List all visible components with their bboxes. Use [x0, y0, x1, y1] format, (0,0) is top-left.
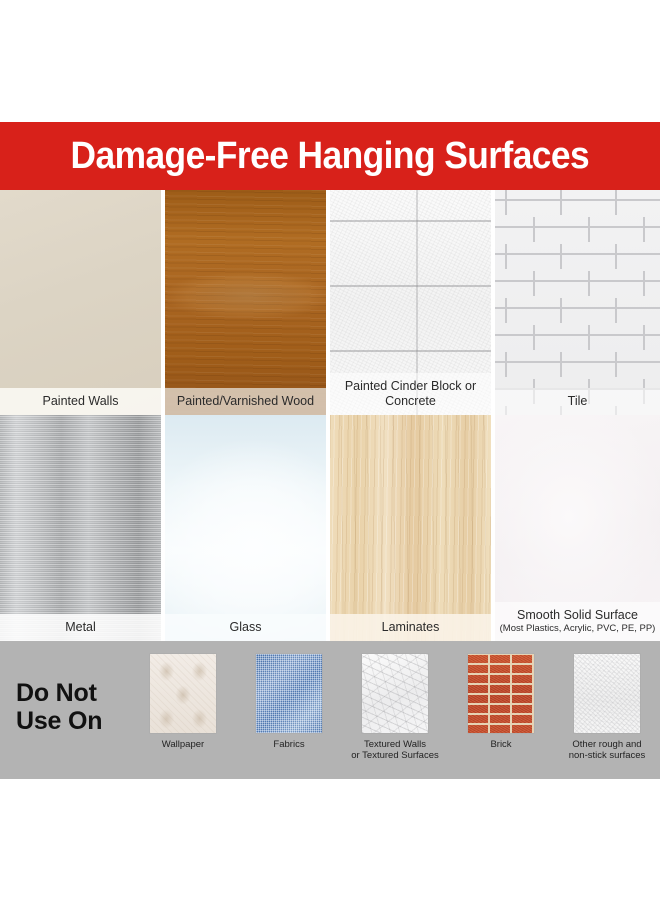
do-not-use-section: Do Not Use On Wallpaper Fabrics Textured… [0, 641, 660, 779]
surface-label: Glass [165, 614, 326, 642]
do-not-item-fabrics: Fabrics [236, 641, 342, 750]
do-not-item-label: Fabrics [273, 739, 304, 750]
surface-label-text: Smooth Solid Surface [517, 608, 638, 622]
surface-cell-smooth-solid: Smooth Solid Surface (Most Plastics, Acr… [495, 415, 660, 641]
surface-cell-glass: Glass [165, 415, 326, 641]
do-not-item-brick: Brick [448, 641, 554, 750]
fabric-denim-texture [256, 654, 322, 733]
brushed-metal-texture [0, 415, 161, 641]
surface-cell-cinder-block: Painted Cinder Block or Concrete [330, 190, 491, 415]
surface-label: Painted Cinder Block or Concrete [330, 373, 491, 415]
surface-row-1: Painted Walls Painted/Varnished Wood Pai… [0, 190, 660, 415]
surface-cell-painted-walls: Painted Walls [0, 190, 161, 415]
wallpaper-texture [150, 654, 216, 733]
surface-cell-varnished-wood: Painted/Varnished Wood [165, 190, 326, 415]
surface-label: Painted Walls [0, 388, 161, 416]
brick-texture [468, 654, 534, 733]
surface-label: Tile [495, 388, 660, 416]
header-banner: Damage-Free Hanging Surfaces [0, 122, 660, 190]
surface-row-2: Metal Glass Laminates Smooth Solid Surfa… [0, 415, 660, 641]
do-not-item-wallpaper: Wallpaper [130, 641, 236, 750]
do-not-item-label: Wallpaper [162, 739, 204, 750]
approved-surfaces-grid: Painted Walls Painted/Varnished Wood Pai… [0, 190, 660, 641]
surface-cell-tile: Tile [495, 190, 660, 415]
glass-texture [165, 415, 326, 641]
do-not-item-label: Other rough and non-stick surfaces [569, 739, 646, 761]
surface-label: Painted/Varnished Wood [165, 388, 326, 416]
varnished-wood-texture [165, 190, 326, 415]
do-not-item-label: Brick [490, 739, 511, 750]
do-not-use-items: Wallpaper Fabrics Textured Walls or Text… [130, 641, 660, 779]
do-not-item-label: Textured Walls or Textured Surfaces [351, 739, 438, 761]
laminate-wood-texture [330, 415, 491, 641]
rough-surface-texture [574, 654, 640, 733]
surface-label: Metal [0, 614, 161, 642]
do-not-use-line-2: Use On [16, 707, 102, 735]
do-not-item-textured-walls: Textured Walls or Textured Surfaces [342, 641, 448, 761]
surface-label: Laminates [330, 614, 491, 642]
do-not-use-title: Do Not Use On [16, 679, 102, 735]
do-not-item-rough-surfaces: Other rough and non-stick surfaces [554, 641, 660, 761]
painted-wall-texture [0, 190, 161, 415]
surface-sublabel: (Most Plastics, Acrylic, PVC, PE, PP) [497, 623, 658, 634]
subway-tile-texture [495, 190, 660, 415]
textured-wall-texture [362, 654, 428, 733]
infographic-page: Damage-Free Hanging Surfaces Painted Wal… [0, 0, 660, 900]
page-title: Damage-Free Hanging Surfaces [71, 137, 590, 175]
surface-cell-metal: Metal [0, 415, 161, 641]
tile-seam-group [495, 190, 660, 415]
surface-label: Smooth Solid Surface (Most Plastics, Acr… [495, 602, 660, 642]
do-not-use-line-1: Do Not [16, 679, 97, 707]
surface-cell-laminates: Laminates [330, 415, 491, 641]
